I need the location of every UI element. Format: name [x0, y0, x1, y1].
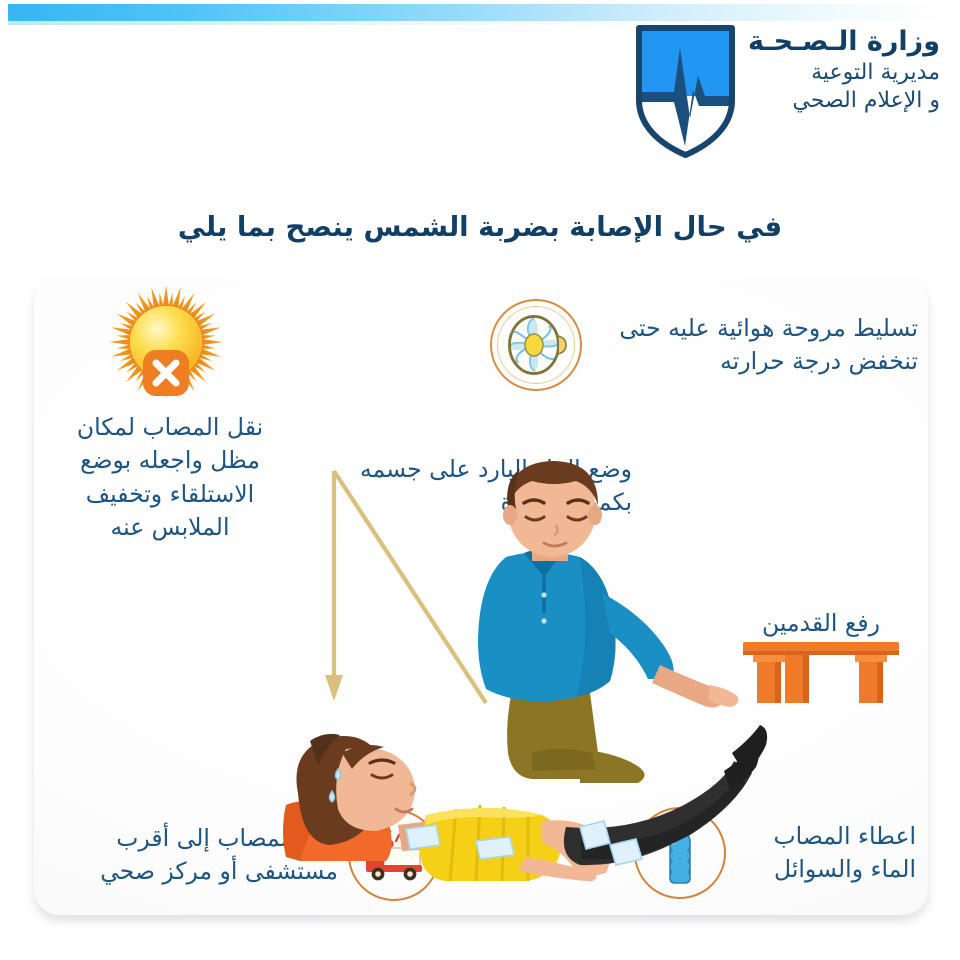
shield-heartbeat-icon: [633, 22, 738, 160]
first-aid-heat-stroke-illustration: [280, 453, 800, 883]
ministry-department-line1: مديرية التوعية: [748, 59, 940, 87]
page-title: في حال الإصابة بضربة الشمس ينصح بما يلي: [0, 210, 960, 246]
header: وزارة الـصـحـة مديرية التوعية و الإعلام …: [633, 22, 940, 160]
arrow-down-icon: [334, 471, 486, 703]
tip-shade-label: نقل المصاب لمكان مظل واجعله بوضع الاستلق…: [54, 411, 286, 544]
ministry-department-line2: و الإعلام الصحي: [748, 87, 940, 115]
tip-fan-label: تسليط مروحة هوائية عليه حتى تنخفض درجة ح…: [588, 312, 918, 379]
ministry-logo-text: وزارة الـصـحـة مديرية التوعية و الإعلام …: [748, 22, 940, 115]
x-badge: [143, 350, 189, 396]
tip-shade: نقل المصاب لمكان مظل واجعله بوضع الاستلق…: [54, 285, 286, 544]
top-accent-bar: [8, 4, 952, 21]
ministry-name: وزارة الـصـحـة: [748, 26, 940, 59]
sun-blocked-icon: [82, 285, 258, 409]
tips-card: تسليط مروحة هوائية عليه حتى تنخفض درجة ح…: [34, 277, 928, 915]
electric-fan-icon: [490, 299, 582, 391]
tip-fan: تسليط مروحة هوائية عليه حتى تنخفض درجة ح…: [490, 299, 918, 391]
